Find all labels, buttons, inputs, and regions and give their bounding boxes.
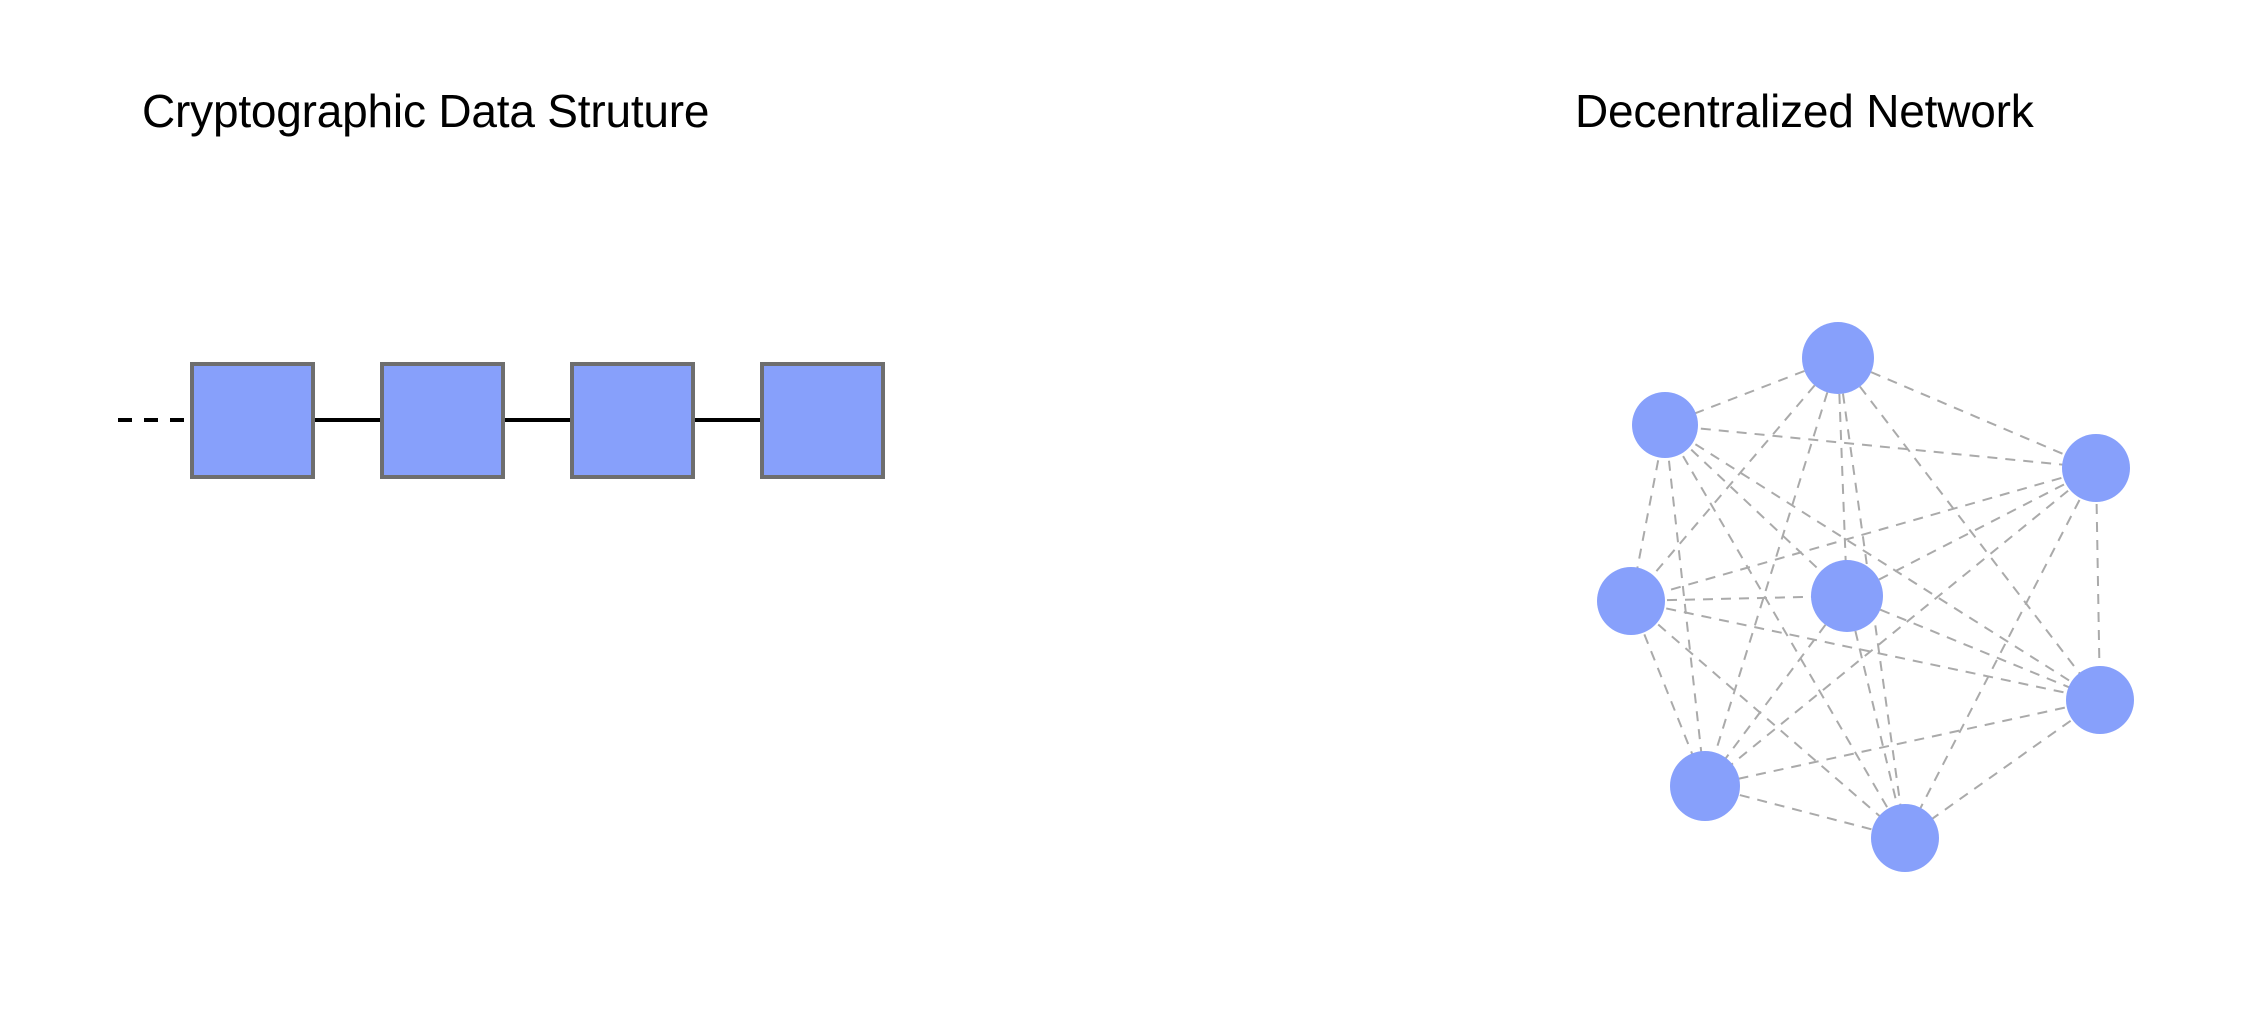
network-node-6[interactable] [1670, 751, 1740, 821]
panel-cryptographic-data-structure: Cryptographic Data Struture [0, 0, 1128, 1034]
network-edge-0-2 [1838, 358, 2096, 468]
chain-block-4[interactable] [762, 364, 883, 477]
blockchain-diagram [0, 0, 1128, 1034]
network-node-7[interactable] [1871, 804, 1939, 872]
chain-block-1[interactable] [192, 364, 313, 477]
network-edge-2-6 [1705, 468, 2096, 786]
network-edge-2-5 [2096, 468, 2100, 700]
chain-block-3[interactable] [572, 364, 693, 477]
network-node-3[interactable] [1597, 567, 1665, 635]
network-edge-3-7 [1631, 601, 1905, 838]
network-edge-1-2 [1665, 425, 2096, 468]
figure-canvas: Cryptographic Data Struture Decentralize… [0, 0, 2256, 1034]
network-node-5[interactable] [2066, 666, 2134, 734]
network-node-2[interactable] [2062, 434, 2130, 502]
network-edge-0-5 [1838, 358, 2100, 700]
network-node-4[interactable] [1811, 560, 1883, 632]
network-edge-1-5 [1665, 425, 2100, 700]
network-edge-4-5 [1847, 596, 2100, 700]
network-diagram [1128, 0, 2256, 1034]
network-node-1[interactable] [1632, 392, 1698, 458]
network-edge-1-4 [1665, 425, 1847, 596]
network-node-0[interactable] [1802, 322, 1874, 394]
network-edge-2-7 [1905, 468, 2096, 838]
panel-decentralized-network: Decentralized Network [1128, 0, 2256, 1034]
network-edge-1-6 [1665, 425, 1705, 786]
chain-block-2[interactable] [382, 364, 503, 477]
